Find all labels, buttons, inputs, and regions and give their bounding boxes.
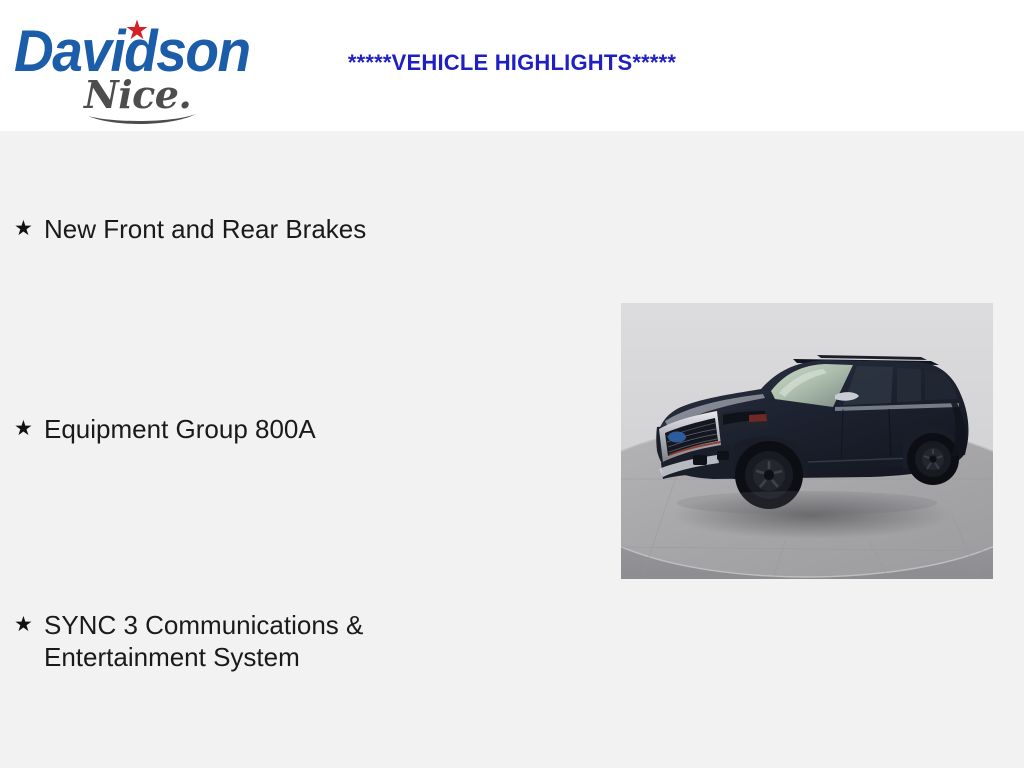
list-item: ★ New Front and Rear Brakes <box>14 213 574 245</box>
highlight-text: New Front and Rear Brakes <box>44 213 574 245</box>
highlight-text: Equipment Group 800A <box>44 413 574 445</box>
star-bullet-icon: ★ <box>14 413 44 445</box>
star-bullet-icon: ★ <box>14 213 44 245</box>
vehicle-photo[interactable] <box>621 303 993 579</box>
highlight-text: SYNC 3 Communications & Entertainment Sy… <box>44 609 574 673</box>
page-title: *****VEHICLE HIGHLIGHTS***** <box>0 50 1024 76</box>
list-item: ★ SYNC 3 Communications & Entertainment … <box>14 609 574 673</box>
logo-script-nice: Nice. <box>84 76 191 114</box>
page-header: Davidson ★ Nice. *****VEHICLE HIGHLIGHTS… <box>0 0 1024 131</box>
vehicle-photo-image <box>621 303 993 579</box>
content-area: ★ New Front and Rear Brakes ★ Equipment … <box>0 131 1024 768</box>
list-item: ★ Equipment Group 800A <box>14 413 574 445</box>
star-bullet-icon: ★ <box>14 609 44 641</box>
red-star-icon: ★ <box>124 17 150 43</box>
logo-swoosh-underline <box>86 112 198 128</box>
